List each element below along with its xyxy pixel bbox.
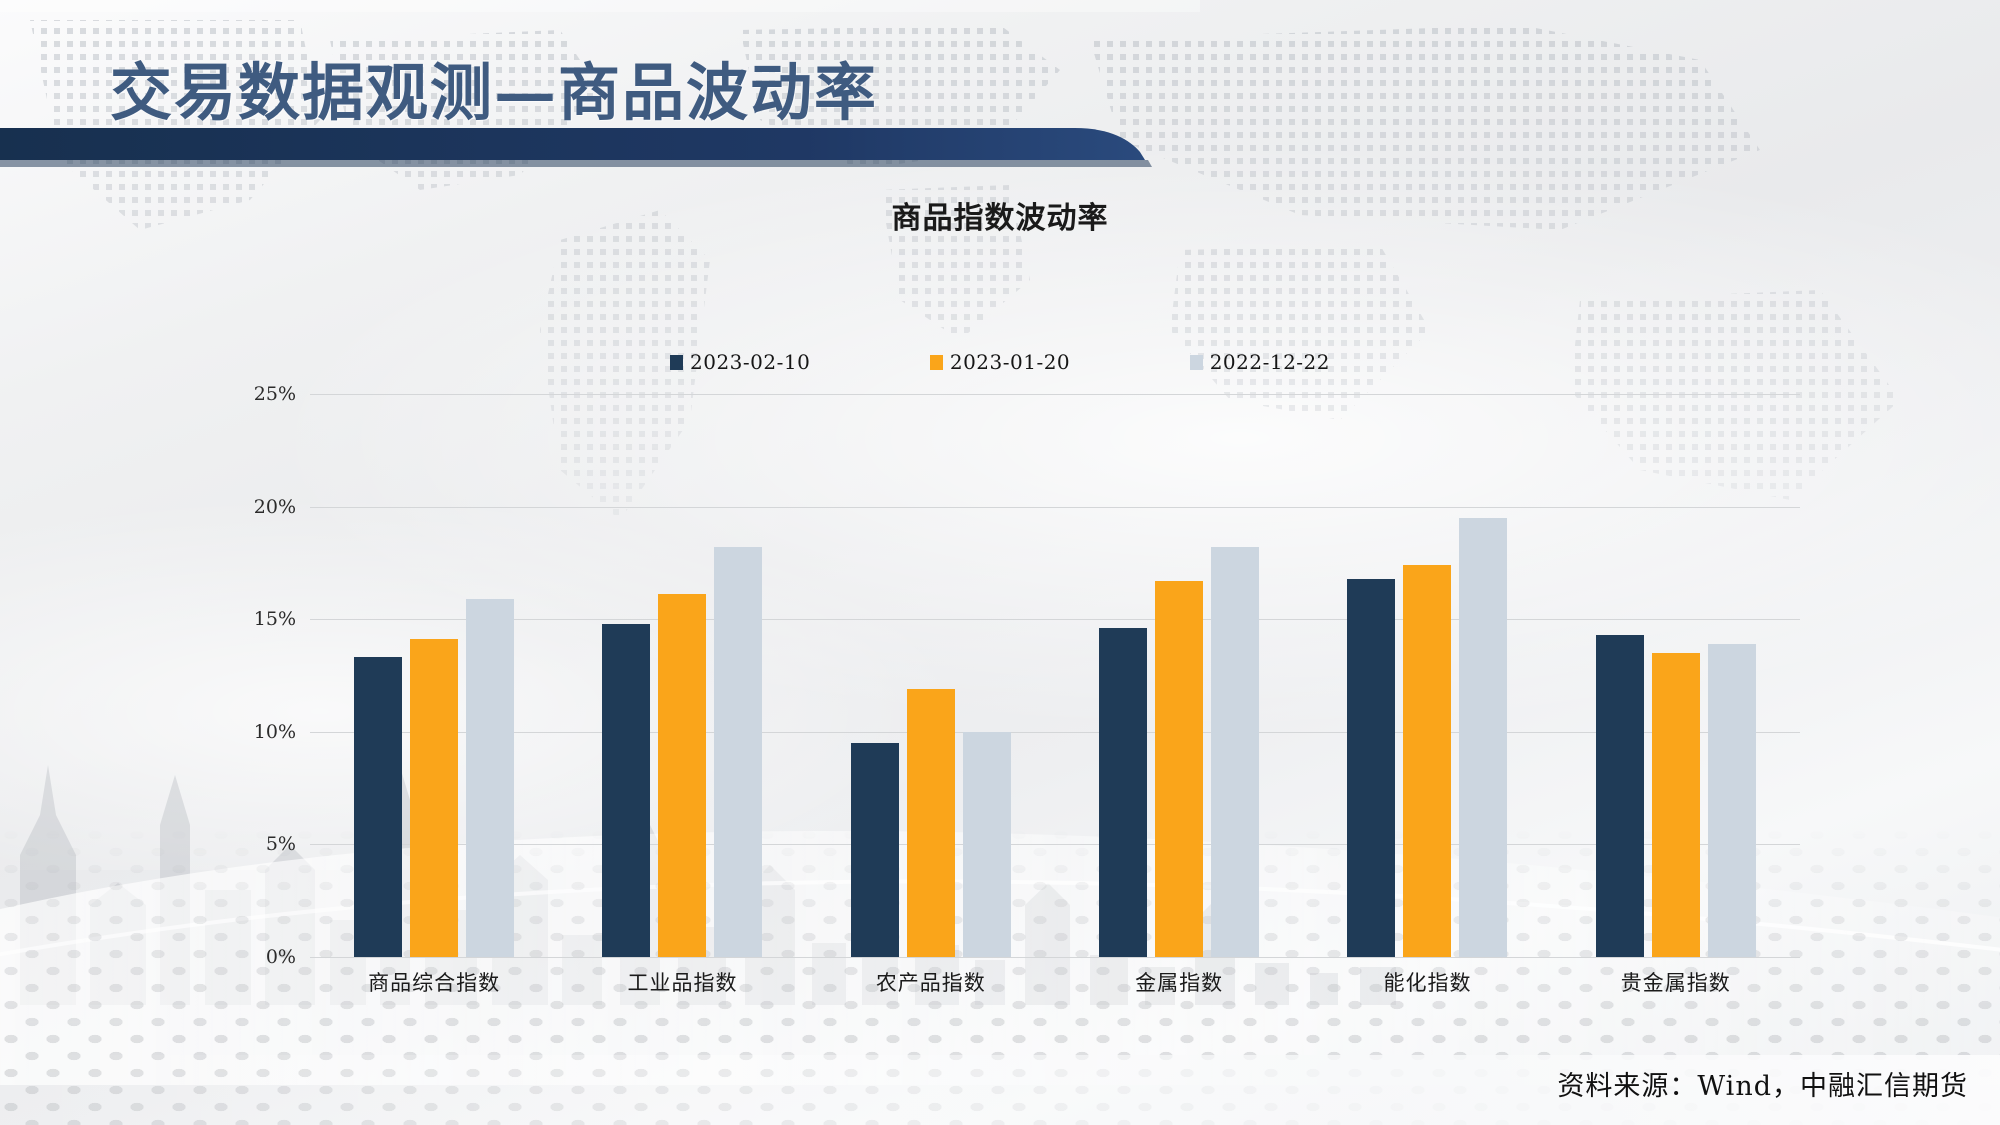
legend-swatch-icon <box>1190 355 1203 370</box>
chart-title: 商品指数波动率 <box>0 193 2000 237</box>
y-axis-tick-label: 20% <box>254 496 296 518</box>
bar[interactable] <box>602 624 650 957</box>
bar[interactable] <box>1211 547 1259 957</box>
legend-swatch-icon <box>670 355 683 370</box>
bar[interactable] <box>1596 635 1644 957</box>
bar[interactable] <box>1347 579 1395 957</box>
bar-group: 商品综合指数 <box>310 394 558 957</box>
bar[interactable] <box>1403 565 1451 957</box>
x-axis-category-label: 能化指数 <box>1383 967 1471 997</box>
x-axis-category-label: 商品综合指数 <box>368 967 500 997</box>
bar[interactable] <box>1099 628 1147 957</box>
bar[interactable] <box>963 732 1011 957</box>
y-axis-tick-label: 0% <box>266 946 296 968</box>
bar[interactable] <box>1155 581 1203 957</box>
y-axis-tick-label: 5% <box>266 833 296 855</box>
y-axis-tick-label: 10% <box>254 721 296 743</box>
y-axis-tick-label: 25% <box>254 383 296 405</box>
bar-group: 贵金属指数 <box>1552 394 1800 957</box>
bar-group: 工业品指数 <box>558 394 806 957</box>
source-note: 资料来源：Wind，中融汇信期货 <box>1557 1064 1968 1103</box>
legend-label: 2023-02-10 <box>690 350 810 374</box>
chart-container: 商品指数波动率 2023-02-10 2023-01-20 2022-12-22… <box>0 180 2000 1040</box>
bar-group: 农产品指数 <box>807 394 1055 957</box>
slide-canvas: 交易数据观测—商品波动率 商品指数波动率 2023-02-10 2023-01-… <box>0 0 2000 1125</box>
bar[interactable] <box>851 743 899 957</box>
x-axis-category-label: 金属指数 <box>1135 967 1223 997</box>
gridline <box>310 957 1800 958</box>
legend-item[interactable]: 2023-01-20 <box>930 350 1070 374</box>
x-axis-category-label: 贵金属指数 <box>1621 967 1731 997</box>
legend-label: 2022-12-22 <box>1210 350 1330 374</box>
bar-group: 金属指数 <box>1055 394 1303 957</box>
bar-groups: 商品综合指数工业品指数农产品指数金属指数能化指数贵金属指数 <box>310 394 1800 957</box>
y-axis-tick-label: 15% <box>254 608 296 630</box>
bar[interactable] <box>1459 518 1507 957</box>
bar[interactable] <box>410 639 458 957</box>
page-title: 交易数据观测—商品波动率 <box>110 42 878 132</box>
legend-swatch-icon <box>930 355 943 370</box>
slide-header: 交易数据观测—商品波动率 <box>0 0 2000 180</box>
chart-legend: 2023-02-10 2023-01-20 2022-12-22 <box>670 350 1330 374</box>
bar[interactable] <box>658 594 706 957</box>
bar-group: 能化指数 <box>1303 394 1551 957</box>
bar[interactable] <box>1652 653 1700 957</box>
bar[interactable] <box>354 657 402 957</box>
bar[interactable] <box>466 599 514 957</box>
legend-item[interactable]: 2022-12-22 <box>1190 350 1330 374</box>
legend-item[interactable]: 2023-02-10 <box>670 350 810 374</box>
legend-label: 2023-01-20 <box>950 350 1070 374</box>
plot-area: 0%5%10%15%20%25% 商品综合指数工业品指数农产品指数金属指数能化指… <box>310 394 1800 957</box>
x-axis-category-label: 工业品指数 <box>627 967 737 997</box>
bar[interactable] <box>1708 644 1756 957</box>
bar[interactable] <box>714 547 762 957</box>
bar[interactable] <box>907 689 955 957</box>
x-axis-category-label: 农产品指数 <box>876 967 986 997</box>
